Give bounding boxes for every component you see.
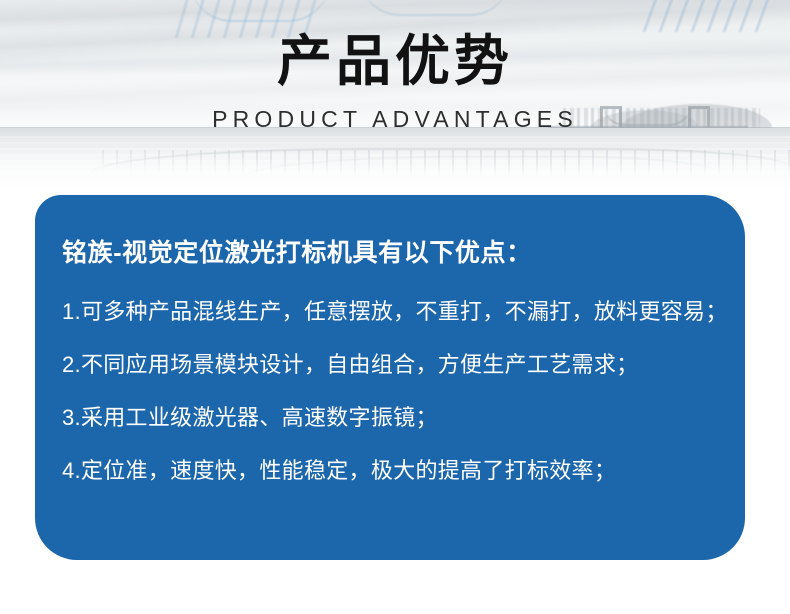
list-item: 4.定位准，速度快，性能稳定，极大的提高了打标效率； bbox=[62, 457, 722, 485]
list-item: 2.不同应用场景模块设计，自由组合，方便生产工艺需求； bbox=[62, 351, 722, 379]
page-title: 产品优势 bbox=[0, 30, 790, 92]
list-item: 3.采用工业级激光器、高速数字振镜； bbox=[62, 404, 722, 432]
advantages-list: 1.可多种产品混线生产，任意摆放，不重打，不漏打，放料更容易； 2.不同应用场景… bbox=[62, 298, 722, 485]
advantages-heading: 铭族-视觉定位激光打标机具有以下优点： bbox=[62, 237, 532, 269]
advantages-panel: 铭族-视觉定位激光打标机具有以下优点： 1.可多种产品混线生产，任意摆放，不重打… bbox=[35, 195, 745, 560]
bridge-suspender-cables-right bbox=[629, 0, 770, 32]
page-subtitle: PRODUCT ADVANTAGES bbox=[0, 104, 790, 134]
header-banner: 产品优势 PRODUCT ADVANTAGES bbox=[0, 0, 790, 200]
list-item: 1.可多种产品混线生产，任意摆放，不重打，不漏打，放料更容易； bbox=[62, 298, 722, 326]
product-advantages-page: 产品优势 PRODUCT ADVANTAGES 铭族-视觉定位激光打标机具有以下… bbox=[0, 0, 790, 614]
